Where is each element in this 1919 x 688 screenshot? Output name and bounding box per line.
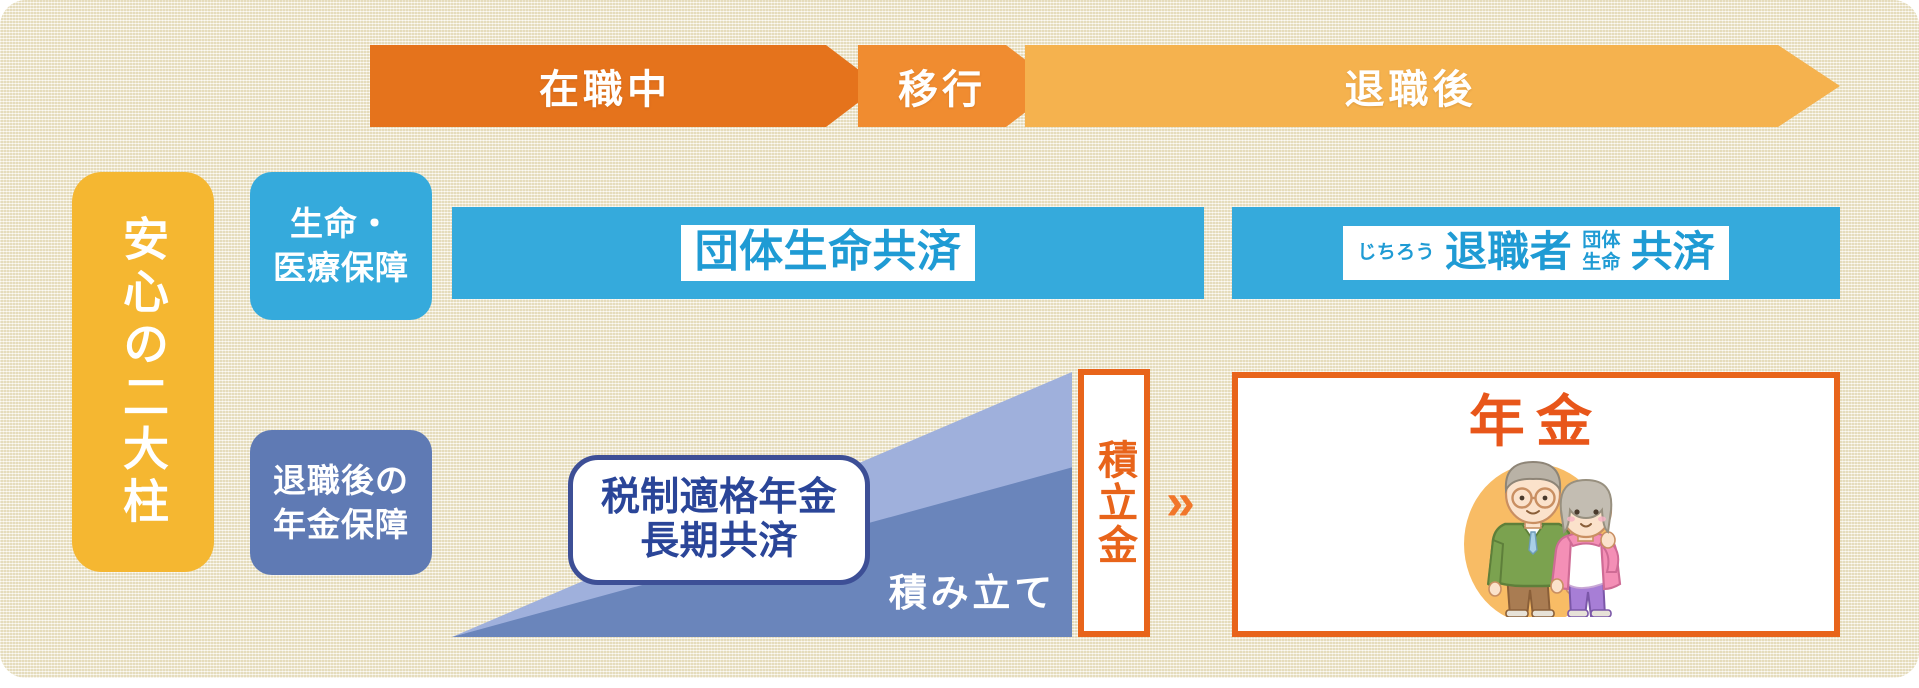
logo-group-life-stack: 団体 生命 [1582, 231, 1620, 273]
category-label-line2: 医療保障 [273, 246, 409, 290]
phase-arrow-during-employment: 在職中 [370, 45, 880, 127]
category-label-line1: 生命・ [290, 202, 392, 246]
double-chevron-right-icon: » [1166, 476, 1190, 528]
phase-arrow-after-retirement: 退職後 [1025, 45, 1840, 127]
phase-arrow-label: 在職中 [539, 57, 671, 115]
reserve-fund-label: 積立金 [1094, 439, 1134, 566]
product-bar-group-life-kyosai: 団体生命共済 [452, 207, 1204, 299]
reserve-fund-box: 積立金 [1078, 369, 1150, 637]
pension-title: 年金 [1469, 394, 1603, 450]
phase-arrow-label: 退職後 [1345, 57, 1477, 115]
logo-stack-line1: 団体 [1582, 231, 1620, 251]
category-label-line2: 年金保障 [273, 503, 409, 547]
pension-payout-panel: 年金 [1232, 372, 1840, 637]
diagram-canvas: 在職中 移行 退職後 安心の二大柱 生命・ 医療保障 退職後の 年金保障 団体生… [0, 0, 1919, 688]
logo-kyosai-text: 共済 [1631, 231, 1715, 273]
diagram-card: 在職中 移行 退職後 安心の二大柱 生命・ 医療保障 退職後の 年金保障 団体生… [0, 0, 1919, 678]
accumulation-label: 積み立て [889, 575, 1056, 613]
logo-retiree-text: 退職者 [1445, 231, 1572, 273]
two-pillars-label: 安心の二大柱 [120, 215, 166, 530]
product-chip-tax-qualified-pension: 税制適格年金 長期共済 [568, 455, 870, 585]
plan-name-line1: 税制適格年金 [601, 476, 837, 520]
product-name-chip: 団体生命共済 [681, 225, 976, 281]
elderly-couple-illustration [1411, 452, 1661, 622]
logo-jichiro-text: じちろう [1357, 243, 1435, 262]
product-name-group-life-kyosai: 団体生命共済 [695, 230, 962, 274]
product-logo-chip: じちろう 退職者 団体 生命 共済 [1343, 226, 1728, 280]
two-pillars-box: 安心の二大柱 [72, 172, 214, 572]
phase-arrow-label: 移行 [898, 57, 986, 115]
category-post-retirement-pension: 退職後の 年金保障 [250, 430, 432, 575]
product-bar-retiree-life-kyosai: じちろう 退職者 団体 生命 共済 [1232, 207, 1840, 299]
plan-name-line2: 長期共済 [640, 520, 798, 564]
category-life-medical-coverage: 生命・ 医療保障 [250, 172, 432, 320]
logo-stack-line2: 生命 [1582, 253, 1620, 273]
category-label-line1: 退職後の [273, 459, 409, 503]
